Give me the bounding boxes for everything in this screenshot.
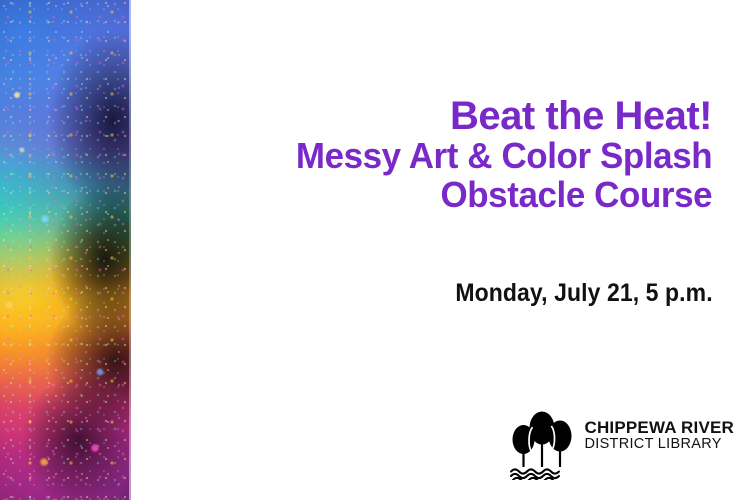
event-datetime: Monday, July 21, 5 p.m.	[456, 279, 713, 308]
color-powder-explosion-image	[0, 0, 131, 500]
library-wordmark: CHIPPEWA RIVER DISTRICT LIBRARY	[584, 419, 734, 467]
three-trees-and-river-icon	[509, 406, 575, 480]
event-poster: Beat the Heat! Messy Art & Color Splash …	[0, 0, 750, 500]
poster-headline: Beat the Heat! Messy Art & Color Splash …	[283, 96, 712, 213]
headline-line-2: Messy Art & Color Splash	[296, 138, 712, 174]
headline-line-1: Beat the Heat!	[283, 96, 712, 136]
wordmark-line-2: DISTRICT LIBRARY	[584, 437, 734, 453]
library-logo: CHIPPEWA RIVER DISTRICT LIBRARY	[509, 406, 734, 480]
headline-line-3: Obstacle Course	[296, 177, 712, 213]
artwork-glints	[0, 0, 131, 500]
wordmark-line-1: CHIPPEWA RIVER	[584, 419, 734, 437]
poster-content: Beat the Heat! Messy Art & Color Splash …	[131, 0, 750, 500]
